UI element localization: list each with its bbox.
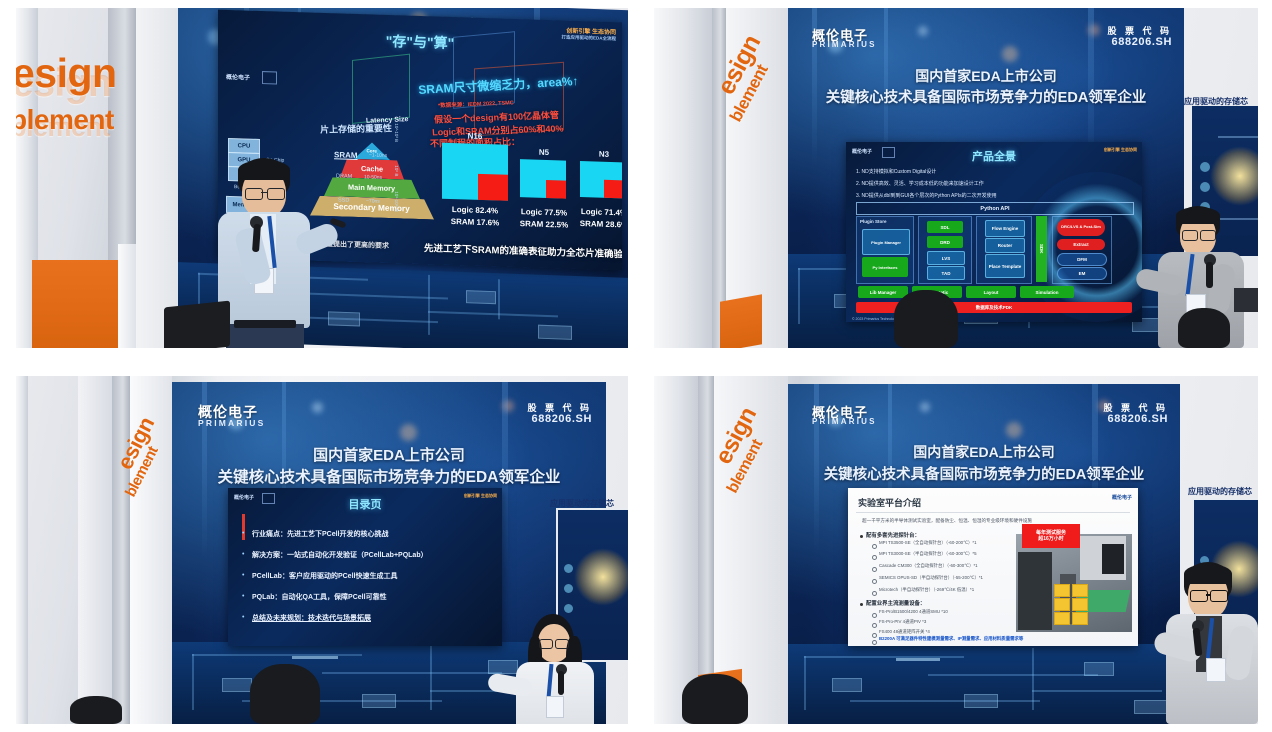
pl-bullet-0: 1. ND支持模拟和Custom Digital设计 bbox=[856, 168, 936, 175]
slide-lab-platform: 概伦电子 实验室平台介绍 超一千平方米的半导体测试实验室，配备防尘、恒温、恒湿的… bbox=[848, 488, 1138, 646]
slide-logo-4: 概伦电子 bbox=[1112, 494, 1132, 501]
slide-caption-right: 先进工艺下SRAM的准确表征助力全芯片准确验证 bbox=[424, 240, 622, 261]
panel-1: esign esign blement blement 关键核心技术具备国际市 bbox=[16, 8, 628, 348]
pl-chip-lvs: LVS bbox=[927, 251, 965, 265]
agenda-item-2: PCellLab：客户应用驱动的PCell快速生成工具 bbox=[252, 571, 397, 581]
latency-ssd: ~70ns bbox=[366, 198, 380, 204]
lab-group2-title: 配置业界主流测量设备： bbox=[866, 599, 925, 607]
presenter-3 bbox=[508, 614, 612, 724]
orange-wall-1 bbox=[32, 260, 118, 348]
bar-group-n3: N3 Logic 71.4% SRAM 28.6% bbox=[570, 161, 622, 238]
slide-corner-brand-3: 创新引擎 生态协同 bbox=[464, 493, 497, 499]
pl-chip-router: Router bbox=[985, 238, 1025, 253]
lab-callout-line2: 超16万小时 bbox=[1038, 536, 1064, 542]
lab-g2-item-0: FS-Pro/B1500/4200 4通道SMU *10 bbox=[879, 609, 948, 615]
pl-python-api-bar: Python API bbox=[856, 202, 1134, 215]
wall-pillar-2a bbox=[654, 8, 712, 348]
audience-head-3b bbox=[70, 696, 122, 724]
lab-g1-item-3: SEMICS OPUS-SD（半自动探针台）（-55-200℃）*1 bbox=[879, 575, 983, 581]
panel-2: esign blement 概伦电子 PRIMARIUS 股 票 代 码 688… bbox=[654, 8, 1258, 348]
wall-pillar-3b bbox=[78, 376, 112, 724]
pl-chip-extract: Extract bbox=[1057, 239, 1105, 250]
bar-sram-1 bbox=[546, 180, 566, 199]
backdrop-logo-en-2: PRIMARIUS bbox=[812, 40, 877, 49]
laptop-2 bbox=[1234, 288, 1258, 312]
pl-chip-plugin-manager: Plugin Manager bbox=[862, 229, 910, 255]
audience-head-2b bbox=[1178, 308, 1230, 348]
lab-g1-item-1: MPI TS3000-SE（半自动探针台）（-60-300℃）*5 bbox=[879, 551, 977, 557]
size-dram: 10⁶ B bbox=[394, 165, 399, 176]
backdrop-headline1-3: 国内首家EDA上市公司 bbox=[172, 444, 606, 465]
backdrop-headline1-2: 国内首家EDA上市公司 bbox=[788, 66, 1184, 86]
latency-sram: ~1-10ns bbox=[369, 152, 387, 159]
wall-brand-design-1: esign bbox=[16, 50, 117, 97]
pl-col-plugin-store: Plugin Store Plugin Manager Py Interface… bbox=[856, 216, 914, 284]
side-display-text-3: 应用驱动的存储芯 bbox=[550, 498, 614, 509]
lab-g1-item-0: MPI TS3500-SE（全自动探针台）（-60-200℃）*1 bbox=[879, 540, 977, 546]
backdrop-headline2-4: 关键核心技术具备国际市场竞争力的EDA领军企业 bbox=[788, 463, 1180, 484]
bar-sram-2 bbox=[604, 180, 622, 199]
booth-scene-3: esign blement 概伦电子 PRIMARIUS 股 票 代 码 688… bbox=[16, 376, 628, 724]
bar-stat-sram-2: SRAM 28.6% bbox=[564, 219, 622, 231]
lab-g1-item-2: Cascade CM300（全自动探针台）（-60-300℃）*1 bbox=[879, 563, 978, 569]
backdrop-logo-en-3: PRIMARIUS bbox=[198, 418, 266, 428]
bar-category-2: N3 bbox=[564, 149, 622, 161]
pl-vstrip-sdk: SDK bbox=[1036, 216, 1047, 282]
pl-chip-py-interfaces: Py Interfaces bbox=[862, 257, 908, 277]
pl-chip-lib-manager: Lib Manager bbox=[858, 286, 908, 298]
wall-pillar-3c bbox=[112, 376, 130, 724]
wall-pillar-2b bbox=[712, 8, 726, 348]
size-sram: 10²-10³ B bbox=[394, 123, 399, 142]
lab-group1-title: 配有多套先进探针台： bbox=[866, 531, 920, 539]
backdrop-headline2-2: 关键核心技术具备国际市场竞争力的EDA领军企业 bbox=[788, 86, 1184, 107]
side-display-text-4: 应用驱动的存储芯 bbox=[1188, 486, 1252, 497]
slide-badge-icon-1 bbox=[262, 71, 277, 84]
backdrop-stock-value-2: 688206.SH bbox=[1112, 36, 1172, 48]
slide-title-4: 实验室平台介绍 bbox=[858, 496, 921, 509]
pl-chip-tad: TAD bbox=[927, 266, 965, 280]
slide-logo-1: 概伦电子 bbox=[226, 72, 250, 82]
size-ssd: 10⁹-10¹² B bbox=[394, 191, 399, 212]
circuit-floor-4 bbox=[788, 644, 1180, 724]
audience-head-3a bbox=[250, 664, 320, 724]
pl-chip-em: EM bbox=[1057, 267, 1107, 280]
pl-chip-drc-lvs: DRC/LVS & Post-Sim bbox=[1057, 219, 1105, 236]
agenda-item-4: 总结及未来规划：技术迭代与场景拓展 bbox=[252, 613, 371, 623]
slide-title-1: "存"与"算" bbox=[218, 26, 622, 59]
orange-wall-2 bbox=[720, 294, 762, 348]
pl-plugin-header: Plugin Store bbox=[860, 219, 887, 224]
pl-col-3: Flow Engine Router Place Template bbox=[976, 216, 1032, 284]
pl-chip-layout: Layout bbox=[966, 286, 1016, 298]
lab-red-callout: 每年测试服务 超16万小时 bbox=[1022, 524, 1080, 548]
agenda-item-1: 解决方案：一站式自动化开发验证（PCellLab+PQLab） bbox=[252, 550, 428, 560]
pyramid-row-2: Main Memory bbox=[348, 183, 395, 193]
latency-dram: 10-50ns bbox=[364, 174, 382, 181]
slide-title-2: 产品全景 bbox=[846, 148, 1142, 164]
pl-chip-flow-engine: Flow Engine bbox=[985, 220, 1025, 237]
presenter-4 bbox=[1166, 562, 1258, 724]
lab-lead: 超一千平方米的半导体测试实验室，配备防尘、恒温、恒湿的专业级环境和硬件设施 bbox=[862, 518, 1032, 524]
bar-stat-logic-2: Logic 71.4% bbox=[564, 207, 622, 219]
latency-size-header: Latency Size bbox=[366, 116, 409, 125]
floor-speaker bbox=[164, 301, 230, 348]
booth-scene-2: esign blement 概伦电子 PRIMARIUS 股 票 代 码 688… bbox=[654, 8, 1258, 348]
lab-g2-item-1: FS-Pro-PIV 4通道PIV *3 bbox=[879, 619, 926, 625]
pl-chip-place-template: Place Template bbox=[985, 254, 1025, 278]
lab-g2-item-2: FS400 48通道矩阵开关 *4 bbox=[879, 629, 930, 635]
booth-scene-4: esign blement 概伦电子 PRIMARIUS 股 票 代 码 688… bbox=[654, 376, 1258, 724]
slide-agenda: 概伦电子 目录页 创新引擎 生态协同 • 行业痛点：先进工艺下PCell开发的核… bbox=[228, 488, 502, 646]
backdrop-headline2-3: 关键核心技术具备国际市场竞争力的EDA领军企业 bbox=[172, 465, 606, 487]
wall-pillar-3a bbox=[16, 376, 28, 724]
badge-4 bbox=[1206, 658, 1226, 682]
pl-bullet-2: 3. ND提供从dbl到到GUI各个层次的Python APIs的二次开发使用 bbox=[856, 192, 997, 199]
booth-scene-1: esign esign blement blement 关键核心技术具备国际市 bbox=[16, 8, 628, 348]
slide-corner-brand-2: 创新引擎 生态协同 bbox=[1104, 147, 1137, 153]
screenshot-root: esign esign blement blement 关键核心技术具备国际市 bbox=[0, 0, 1272, 732]
agenda-item-0: 行业痛点：先进工艺下PCell开发的核心挑战 bbox=[252, 529, 389, 539]
presenter-1 bbox=[212, 158, 342, 348]
lab-g1-item-4: Microtech（半自动探针台）（-269℃/4K 低温）*1 bbox=[879, 587, 974, 593]
panel-4: esign blement 概伦电子 PRIMARIUS 股 票 代 码 688… bbox=[654, 376, 1258, 724]
wall-pillar-4b bbox=[698, 376, 714, 724]
side-display-text-2: 应用驱动的存储芯 bbox=[1184, 96, 1248, 107]
agenda-item-3: PQLab：自动化QA工具，保障PCell可靠性 bbox=[252, 592, 387, 602]
backdrop-headline1-4: 国内首家EDA上市公司 bbox=[788, 442, 1180, 462]
panel-3: esign blement 概伦电子 PRIMARIUS 股 票 代 码 688… bbox=[16, 376, 628, 724]
pl-col-4: DRC/LVS & Post-Sim Extract DFM EM bbox=[1052, 216, 1112, 284]
lab-g2-item-3: B2200A 可满足器件特性建模测量需求、IP测量需求、应用材料质量需求等 bbox=[879, 636, 1023, 642]
pl-vstrip-label: SDK bbox=[1039, 244, 1044, 254]
pyramid-row-1: Cache bbox=[361, 165, 383, 174]
slide-product-landscape: 概伦电子 产品全景 创新引擎 生态协同 1. ND支持模拟和Custom Dig… bbox=[846, 142, 1142, 322]
wall-edge-1 bbox=[118, 244, 136, 348]
wall-brand-enablement-1: blement bbox=[16, 104, 114, 136]
pl-bullet-1: 2. ND提供高效、灵活、学习成本低的功能来加速设计工作 bbox=[856, 180, 984, 187]
lab-rule bbox=[856, 512, 1130, 513]
lab-equipment-photo bbox=[1016, 534, 1132, 632]
wall-pillar-4a bbox=[654, 376, 698, 724]
backdrop-logo-en-4: PRIMARIUS bbox=[812, 417, 877, 426]
backdrop-stock-value-4: 688206.SH bbox=[1108, 413, 1168, 425]
audience-head-4 bbox=[682, 674, 748, 724]
slide-title-3: 目录页 bbox=[228, 496, 502, 512]
pl-col-2: SDL DRD LVS TAD bbox=[918, 216, 972, 284]
pl-chip-simulation: Simulation bbox=[1020, 286, 1074, 298]
pl-chip-sdl: SDL bbox=[927, 221, 963, 233]
pl-chip-drd: DRD bbox=[927, 236, 963, 248]
pl-chip-dfm: DFM bbox=[1057, 253, 1107, 266]
audience-head-2a bbox=[894, 290, 958, 348]
badge-3 bbox=[546, 696, 564, 718]
backdrop-stock-value-3: 688206.SH bbox=[532, 413, 592, 425]
